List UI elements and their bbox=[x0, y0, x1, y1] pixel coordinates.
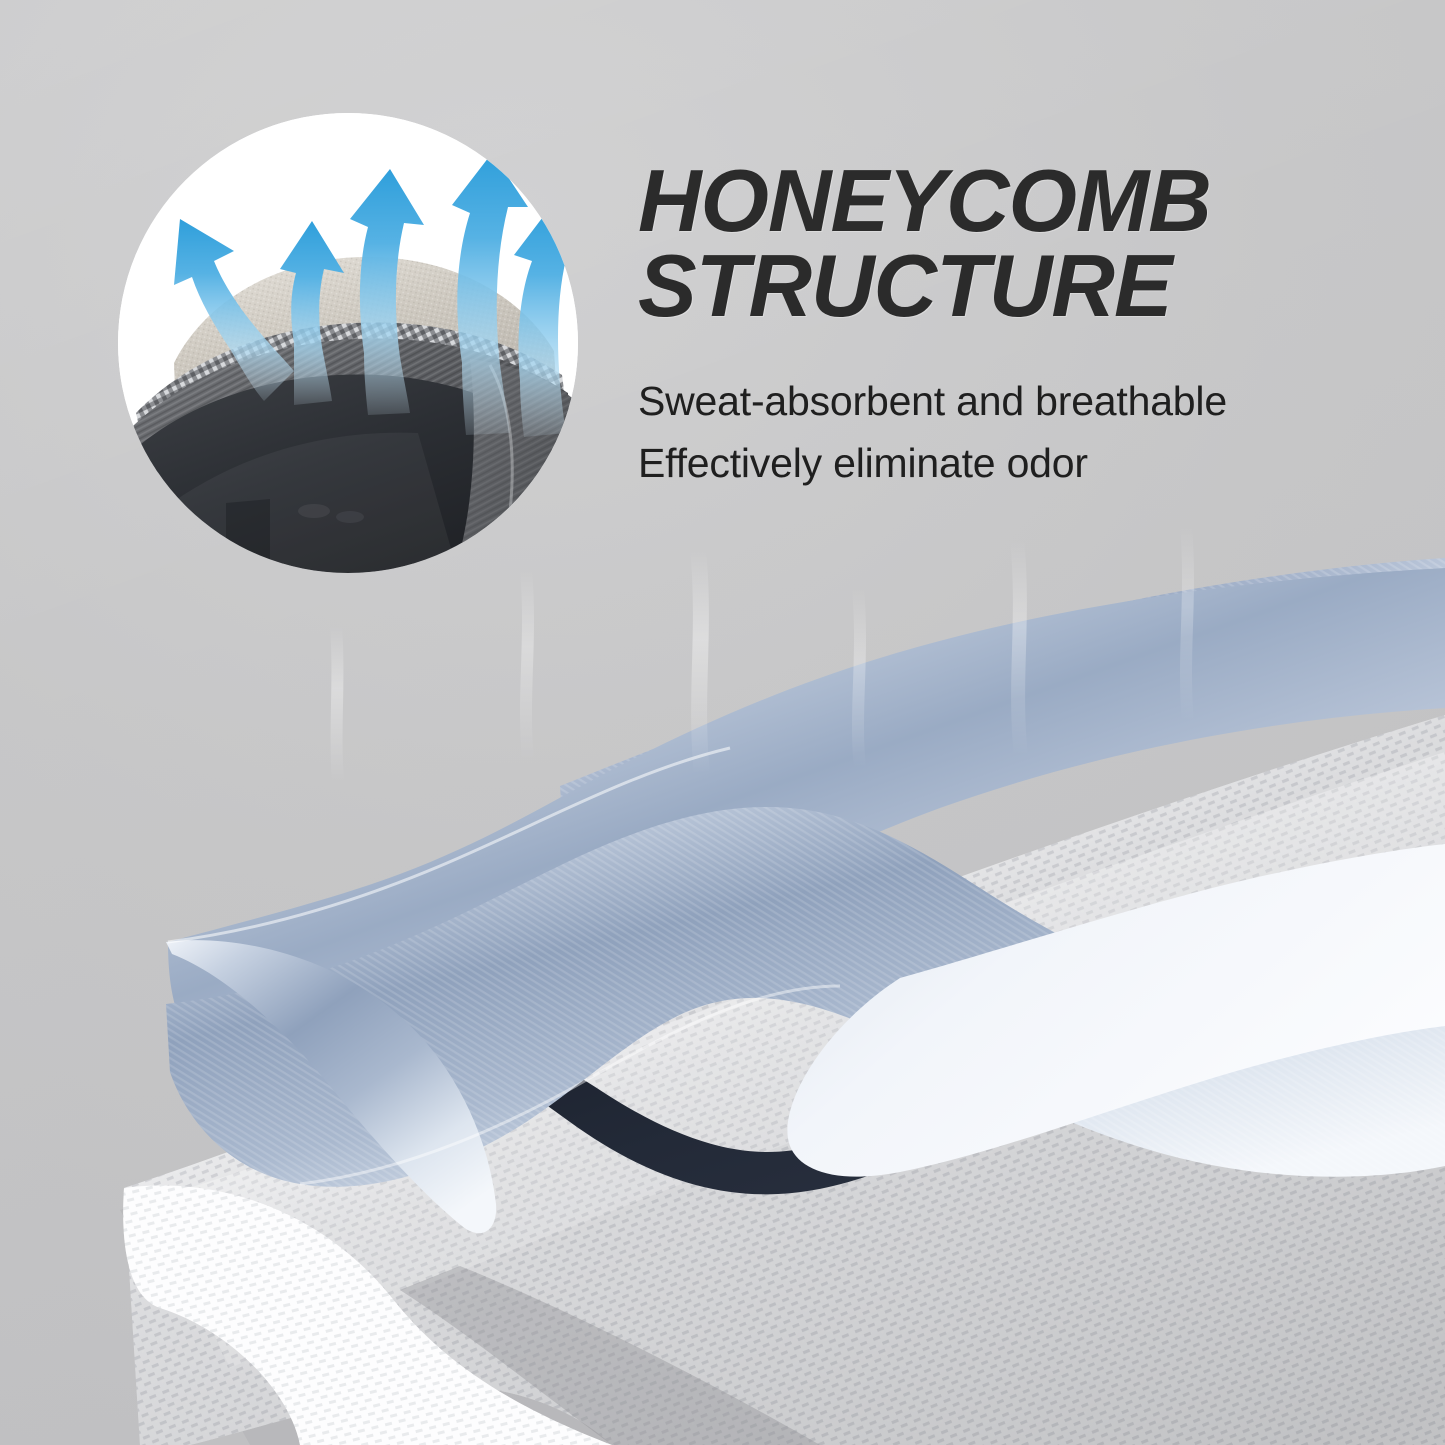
inset-photo: BAMBO bbox=[118, 113, 578, 573]
subhead-block: Sweat-absorbent and breathable Effective… bbox=[638, 370, 1358, 495]
breathability-closeup-inset: BAMBO bbox=[118, 113, 578, 573]
headline-line-1: HONEYCOMB bbox=[638, 158, 1358, 243]
blue-wave-sheet bbox=[166, 558, 1445, 1233]
fabric-layers-illustration bbox=[0, 430, 1445, 1445]
subhead-line-1: Sweat-absorbent and breathable bbox=[638, 370, 1358, 432]
headline-line-2: STRUCTURE bbox=[638, 243, 1358, 328]
headline-block: HONEYCOMB STRUCTURE bbox=[638, 158, 1358, 329]
subhead-line-2: Effectively eliminate odor bbox=[638, 432, 1358, 494]
product-feature-banner: BAMBO bbox=[0, 0, 1445, 1445]
